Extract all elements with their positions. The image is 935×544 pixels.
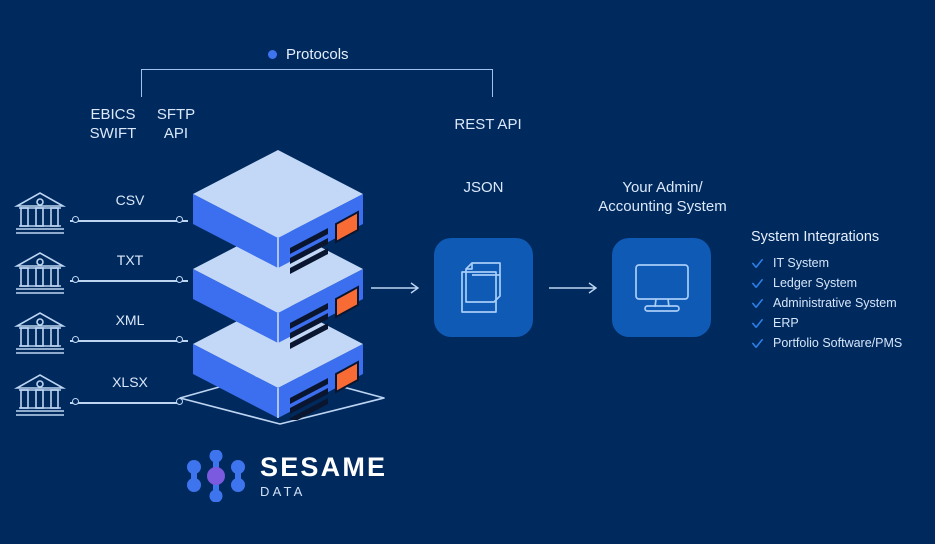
- logo-name: SESAME: [260, 454, 387, 481]
- source-row: CSV: [0, 188, 200, 248]
- source-row: XLSX: [0, 370, 200, 430]
- documents-icon: [456, 258, 512, 318]
- system-integrations-panel: System Integrations IT System Ledger Sys…: [751, 229, 931, 356]
- integration-label: IT System: [773, 256, 829, 270]
- logo-subtitle: DATA: [260, 485, 387, 498]
- step-label-admin-system: Your Admin/ Accounting System: [580, 179, 745, 217]
- bank-icon: [12, 188, 68, 240]
- check-icon: [751, 297, 764, 310]
- sesame-molecule-icon: [185, 450, 247, 502]
- check-icon: [751, 277, 764, 290]
- bank-icon: [12, 248, 68, 300]
- connector-line: [70, 340, 188, 342]
- integration-label: ERP: [773, 316, 799, 330]
- bank-icon: [12, 308, 68, 360]
- diagram-canvas: Protocols EBICS SWIFT SFTP API REST API …: [0, 0, 935, 544]
- protocols-legend: Protocols: [268, 46, 349, 63]
- integration-item: Ledger System: [751, 276, 931, 290]
- protocols-label: Protocols: [286, 46, 349, 63]
- check-icon: [751, 257, 764, 270]
- connector-node: [72, 398, 79, 405]
- monitor-icon: [631, 261, 693, 315]
- integration-label: Portfolio Software/PMS: [773, 336, 902, 350]
- bank-icon: [12, 370, 68, 422]
- integration-item: IT System: [751, 256, 931, 270]
- integrations-title: System Integrations: [751, 229, 931, 245]
- connector-node: [72, 216, 79, 223]
- format-label-xlsx: XLSX: [70, 374, 190, 390]
- integration-item: Administrative System: [751, 296, 931, 310]
- arrow-right-icon: [549, 281, 601, 295]
- format-label-txt: TXT: [70, 252, 190, 268]
- protocol-label-ebics-swift: EBICS SWIFT: [80, 106, 146, 144]
- integration-item: Portfolio Software/PMS: [751, 336, 931, 350]
- protocol-bracket: [141, 69, 493, 97]
- connector-node: [72, 276, 79, 283]
- arrow-right-icon: [371, 281, 423, 295]
- json-card[interactable]: [434, 238, 533, 337]
- integration-item: ERP: [751, 316, 931, 330]
- step-label-json: JSON: [434, 179, 533, 198]
- integration-label: Ledger System: [773, 276, 857, 290]
- server-stack-icon: [178, 150, 378, 420]
- format-label-xml: XML: [70, 312, 190, 328]
- connector-node: [72, 336, 79, 343]
- connector-line: [70, 402, 182, 404]
- source-row: XML: [0, 308, 200, 368]
- format-label-csv: CSV: [70, 192, 190, 208]
- source-row: TXT: [0, 248, 200, 308]
- protocol-label-rest-api: REST API: [440, 116, 536, 135]
- sesame-data-logo: SESAME DATA: [185, 450, 387, 502]
- integration-label: Administrative System: [773, 296, 897, 310]
- dot-icon: [268, 50, 277, 59]
- monitor-card[interactable]: [612, 238, 711, 337]
- check-icon: [751, 317, 764, 330]
- connector-line: [70, 220, 188, 222]
- check-icon: [751, 337, 764, 350]
- connector-line: [70, 280, 188, 282]
- protocol-label-sftp-api: SFTP API: [150, 106, 202, 144]
